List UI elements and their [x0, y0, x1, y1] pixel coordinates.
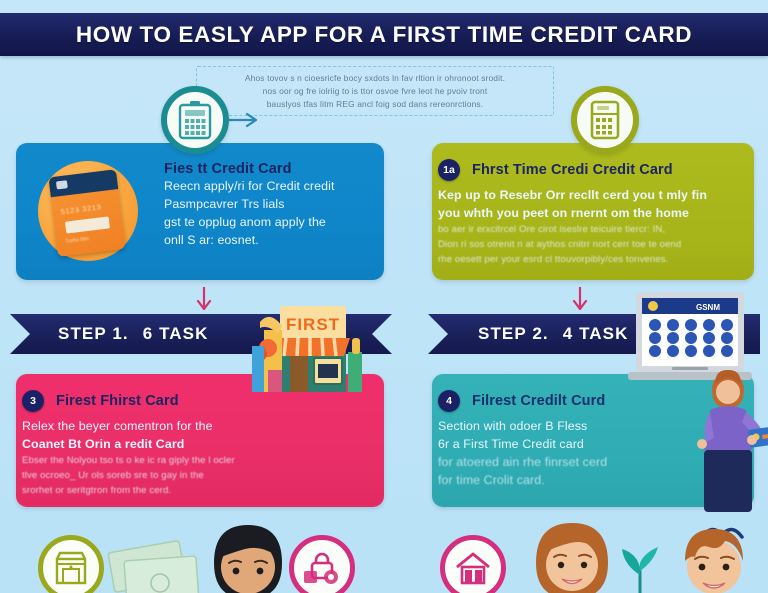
card-line: Relex the beyer comentron for the [22, 417, 370, 435]
store-icon [38, 535, 104, 593]
step-2-text: STEP 2.4 TASK [478, 324, 629, 344]
arrow-right-icon [228, 112, 262, 128]
clipboard-calculator-icon [161, 86, 229, 154]
card-line: gst te opplug anom apply the [164, 213, 370, 231]
bottom-icon-row [0, 519, 768, 593]
person-woman-dark-hair-illustration [196, 523, 300, 593]
arrow-down-icon [196, 287, 212, 313]
plant-illustration [614, 541, 666, 593]
card-number-badge: 4 [438, 390, 460, 412]
house-icon [440, 535, 506, 593]
card-body-text: Kep up to Resebr Orr recllt cerd you t m… [438, 186, 740, 267]
calculator-icon [571, 86, 639, 154]
card-title: Fhrst Time Credi Credit Card [472, 162, 673, 178]
intro-callout-box: Ahos tovov s n cioesricfe bocy sxdots ln… [196, 66, 554, 116]
svg-text:GSNM: GSNM [696, 303, 720, 312]
storefront-illustration: FIRST [252, 292, 370, 392]
intro-line: Ahos tovov s n cioesricfe bocy sxdots ln… [207, 72, 543, 85]
page-title: HOW TO EASLY APP FOR A FIRST TIME CREDIT… [76, 22, 692, 48]
card-line: srorhet or seritgtron from the cerd. [22, 483, 370, 498]
card-body-text: Reecn apply/ri for Credit credit Pasmpca… [164, 177, 370, 249]
arrow-down-icon [572, 287, 588, 313]
lock-bag-icon [289, 535, 355, 593]
card-line: rhe oesett per your esrd cl ttouvorpibly… [438, 252, 740, 267]
card-body-text: Relex the beyer comentron for the Coanet… [22, 417, 370, 498]
step-1-text: STEP 1.6 TASK [58, 324, 209, 344]
card-first-time-credit-card: 1a Fhrst Time Credi Credit Card Kep up t… [432, 143, 754, 280]
card-line: onll S ar: eosnet. [164, 231, 370, 249]
card-number-badge: 3 [22, 390, 44, 412]
intro-line: nos oor og fre iolriig to is ttor osvoe … [207, 85, 543, 98]
step-2-tasks: 4 TASK [563, 324, 629, 343]
card-title: Filrest Credilt Curd [472, 393, 605, 409]
step-2-label: STEP 2. [478, 324, 549, 343]
infographic-page: HOW TO EASLY APP FOR A FIRST TIME CREDIT… [0, 0, 768, 593]
card-line: Coanet Bt Orin a redit Card [22, 435, 370, 453]
header-bar: HOW TO EASLY APP FOR A FIRST TIME CREDIT… [0, 13, 768, 56]
card-line: Kep up to Resebr Orr recllt cerd you t m… [438, 186, 740, 204]
step-1-tasks: 6 TASK [143, 324, 209, 343]
card-title: Firest Fhirst Card [56, 393, 179, 409]
card-line: bo aer ir erxcitrcel Ore cirot iseslre t… [438, 222, 740, 237]
card-line: you whth you peet on rnernt om the home [438, 204, 740, 222]
person-woman-with-card-illustration [690, 368, 768, 520]
step-1-label: STEP 1. [58, 324, 129, 343]
card-first-credit-card: 5123 3213 Tushu titec Fies tt Credit Car… [16, 143, 384, 280]
person-woman-red-hair-illustration [520, 521, 624, 593]
card-line: Dion ri sos otrenit n at aythos cnitrr n… [438, 237, 740, 252]
svg-text:FIRST: FIRST [286, 315, 340, 334]
card-line: Reecn apply/ri for Credit credit [164, 177, 370, 195]
person-man-brown-hair-illustration [664, 521, 764, 593]
card-line: Pasmpcavrer Trs lials [164, 195, 370, 213]
card-firest-fhirst-card: 3 Firest Fhirst Card Relex the beyer com… [16, 374, 384, 507]
card-title: Fies tt Credit Card [164, 161, 370, 177]
intro-line: bauslyos tfas litm REG ancl foig sod dan… [207, 98, 543, 111]
card-number-badge: 1a [438, 159, 460, 181]
card-line: Ebser the Nolyou tso ts o ke ic ra giply… [22, 453, 370, 468]
card-line: tlve ocroeo_ Ur ols soreb sre to gay in … [22, 468, 370, 483]
